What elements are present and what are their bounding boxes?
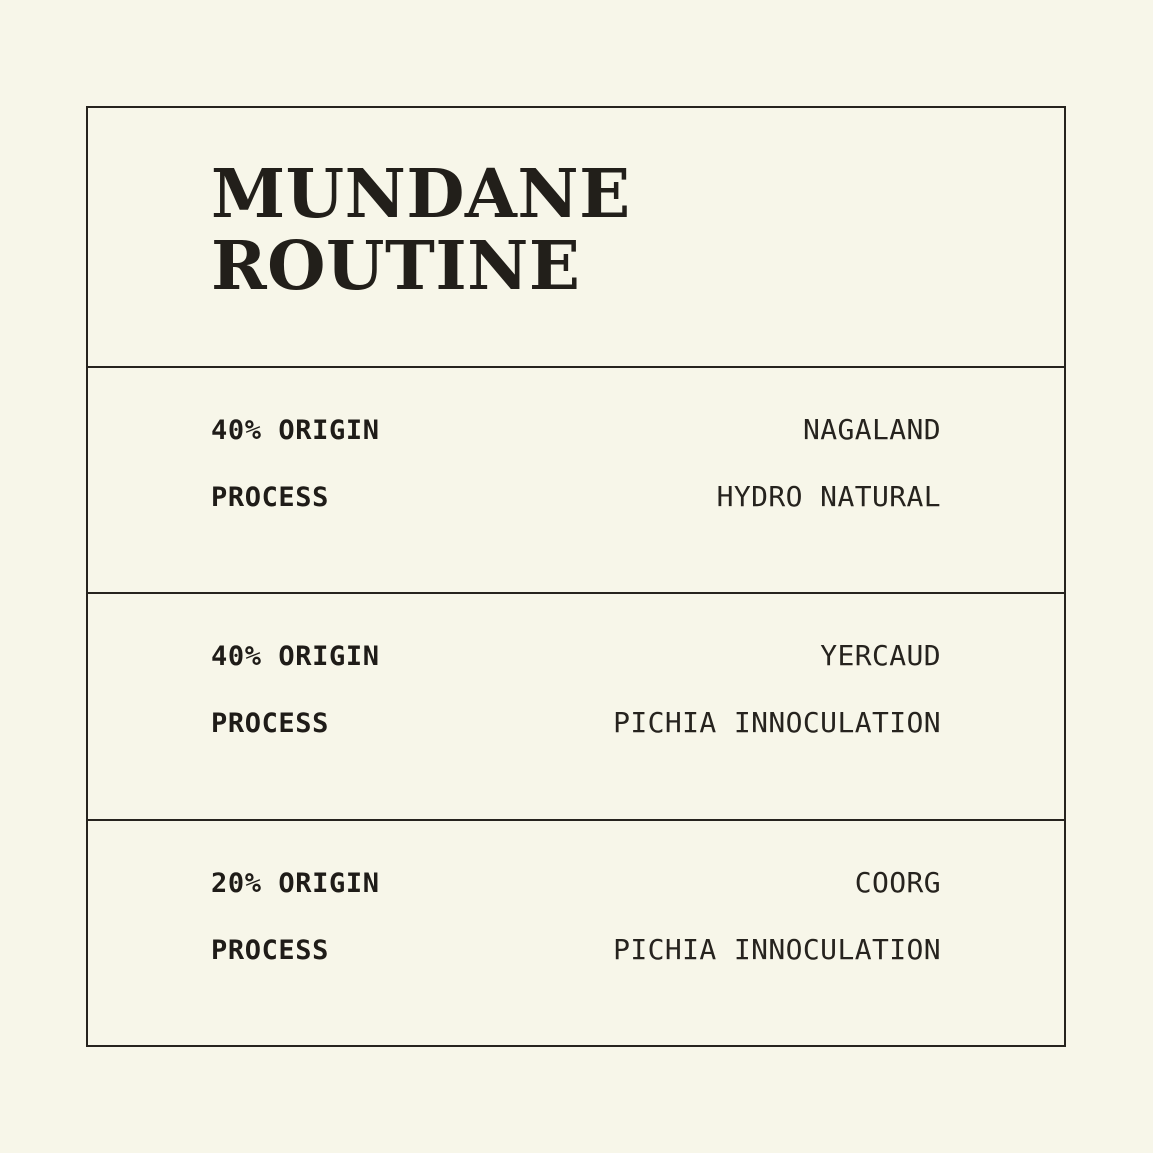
process-label: PROCESS — [211, 482, 329, 513]
process-line: PROCESS HYDRO NATURAL — [211, 480, 941, 547]
origin-line: 40% ORIGIN YERCAUD — [211, 639, 941, 706]
page-title: MUNDANE ROUTINE — [211, 158, 1064, 303]
process-label: PROCESS — [211, 708, 329, 739]
blend-component-row: 20% ORIGIN COORG PROCESS PICHIA INNOCULA… — [88, 821, 1064, 1045]
process-line: PROCESS PICHIA INNOCULATION — [211, 933, 941, 1000]
process-value: PICHIA INNOCULATION — [613, 706, 941, 739]
card-header: MUNDANE ROUTINE — [88, 108, 1064, 368]
origin-line: 40% ORIGIN NAGALAND — [211, 413, 941, 480]
origin-percentage-label: 40% ORIGIN — [211, 641, 380, 672]
origin-percentage-label: 20% ORIGIN — [211, 868, 380, 899]
blend-component-row: 40% ORIGIN YERCAUD PROCESS PICHIA INNOCU… — [88, 594, 1064, 820]
origin-percentage-label: 40% ORIGIN — [211, 415, 380, 446]
origin-value: NAGALAND — [803, 413, 941, 446]
origin-line: 20% ORIGIN COORG — [211, 866, 941, 933]
coffee-blend-spec-card-page: MUNDANE ROUTINE 40% ORIGIN NAGALAND PROC… — [0, 0, 1153, 1153]
origin-value: COORG — [855, 866, 941, 899]
process-label: PROCESS — [211, 935, 329, 966]
process-value: HYDRO NATURAL — [717, 480, 941, 513]
blend-spec-card: MUNDANE ROUTINE 40% ORIGIN NAGALAND PROC… — [86, 106, 1066, 1047]
blend-component-row: 40% ORIGIN NAGALAND PROCESS HYDRO NATURA… — [88, 368, 1064, 594]
process-value: PICHIA INNOCULATION — [613, 933, 941, 966]
process-line: PROCESS PICHIA INNOCULATION — [211, 706, 941, 773]
origin-value: YERCAUD — [820, 639, 941, 672]
